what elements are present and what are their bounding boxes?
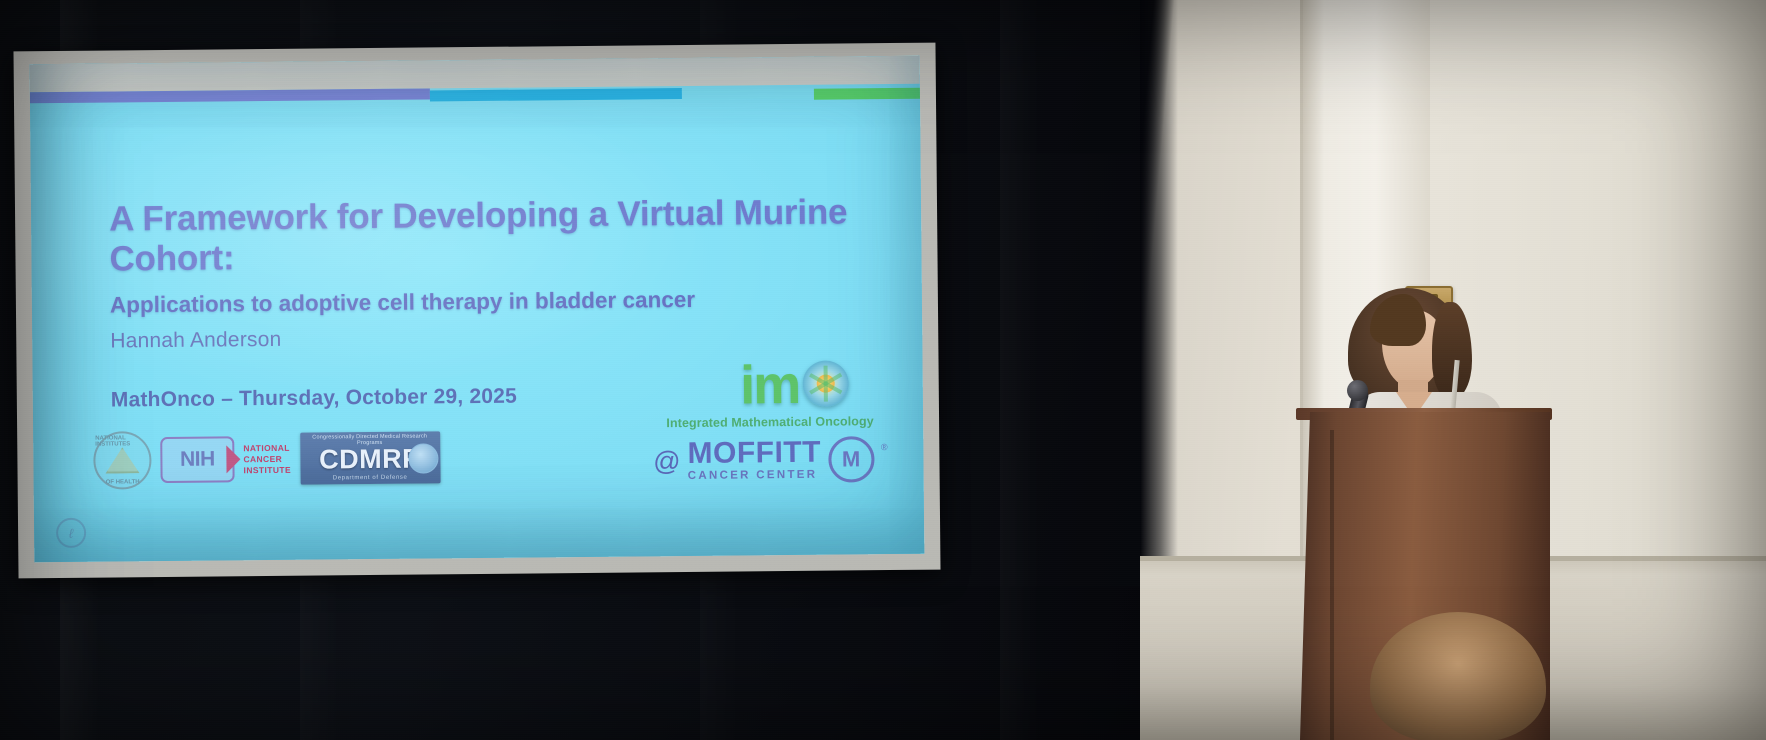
- moffitt-name: MOFFITT: [687, 438, 821, 469]
- nih-seal-icon: NATIONAL INSTITUTES OF HEALTH: [93, 431, 152, 490]
- imo-tagline: Integrated Mathematical Oncology: [645, 414, 895, 430]
- at-symbol: @: [653, 446, 681, 477]
- moffitt-subtitle: CANCER CENTER: [688, 470, 822, 483]
- imo-logo: im Integrated Mathematical Oncology: [644, 358, 895, 430]
- funder-logos: NATIONAL INSTITUTES OF HEALTH NIH NATION…: [93, 428, 440, 489]
- podium-edge: [1330, 430, 1334, 740]
- nih-label: NIH: [180, 448, 215, 472]
- nci-line3: INSTITUTE: [243, 464, 291, 475]
- nih-chevron-icon: [226, 445, 240, 473]
- projected-slide: A Framework for Developing a Virtual Mur…: [30, 56, 925, 563]
- slide-corner-mark: ℓ: [56, 518, 86, 548]
- cdmrp-wordmark: CDMRP: [319, 443, 421, 475]
- sun-network-icon: [802, 360, 848, 406]
- slide-title: A Framework for Developing a Virtual Mur…: [109, 192, 870, 279]
- slide-author: Hannah Anderson: [110, 328, 281, 354]
- cdmrp-logo: Congressionally Directed Medical Researc…: [300, 431, 440, 484]
- imo-wordmark: im: [740, 355, 800, 416]
- nci-line2: CANCER: [243, 453, 291, 464]
- nih-seal-ring-bottom: OF HEALTH: [106, 479, 140, 485]
- microphone-head-icon: [1347, 380, 1368, 401]
- cdmrp-bottom-line: Department of Defense: [300, 474, 440, 481]
- national-cancer-institute-logo: NATIONAL CANCER INSTITUTE: [243, 442, 291, 475]
- slide-event-date: MathOnco – Thursday, October 29, 2025: [111, 385, 517, 413]
- conference-room-photo: A Framework for Developing a Virtual Mur…: [0, 0, 1766, 740]
- slide-subtitle: Applications to adoptive cell therapy in…: [110, 284, 900, 319]
- projection-screen: A Framework for Developing a Virtual Mur…: [13, 43, 940, 579]
- nih-logo: NIH: [160, 436, 234, 483]
- registered-mark: ®: [881, 442, 888, 452]
- nci-line1: NATIONAL: [243, 442, 291, 453]
- nih-seal-ring-top: NATIONAL INSTITUTES: [95, 435, 149, 448]
- cdmrp-globe-icon: [408, 443, 438, 473]
- moffitt-m-mark: M: [828, 436, 874, 482]
- moffitt-logo: @ MOFFITT CANCER CENTER M ®: [645, 436, 895, 484]
